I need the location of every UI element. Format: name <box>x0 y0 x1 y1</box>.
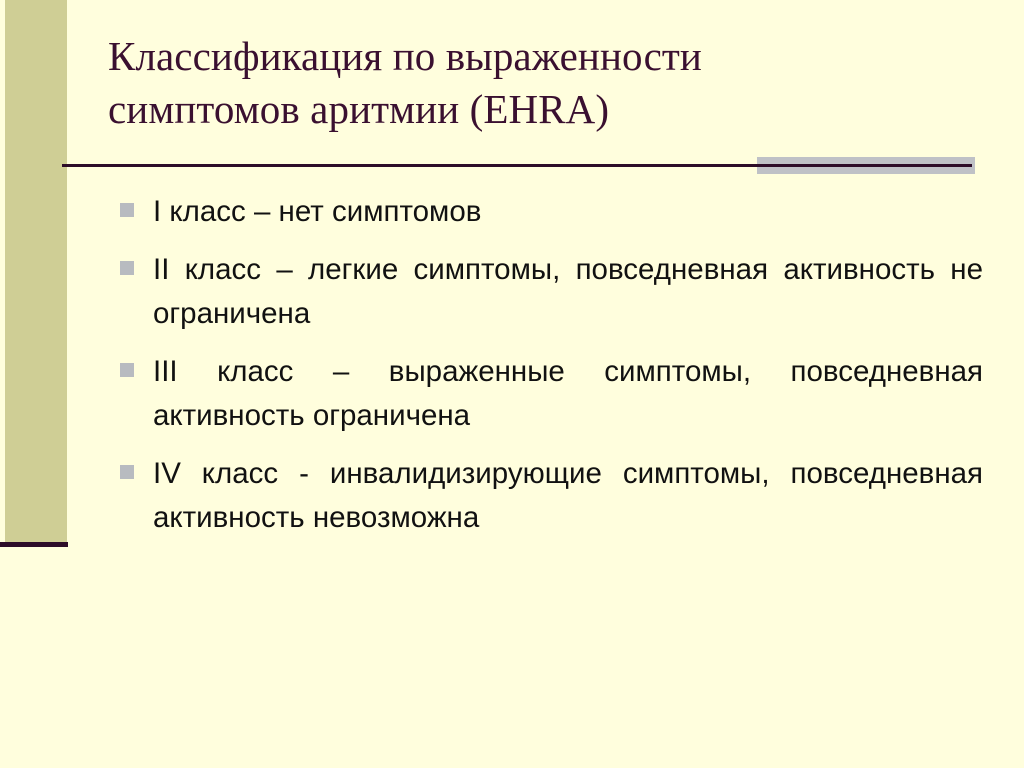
title-underline-rule <box>62 164 972 167</box>
left-decorative-band <box>5 0 67 542</box>
slide-canvas: Классификация по выраженности симптомов … <box>0 0 1024 768</box>
bullet-list: I класс – нет симптомов II класс – легки… <box>118 190 983 554</box>
list-item-label: II класс – легкие симптомы, повседневная… <box>153 248 983 336</box>
title-line-1: Классификация по выраженности <box>108 30 988 83</box>
list-item-label: I класс – нет симптомов <box>153 190 983 234</box>
square-bullet-icon <box>120 203 134 217</box>
list-item: I класс – нет симптомов <box>118 190 983 234</box>
slide-title: Классификация по выраженности симптомов … <box>108 30 988 136</box>
square-bullet-icon <box>120 363 134 377</box>
list-item: II класс – легкие симптомы, повседневная… <box>118 248 983 336</box>
left-band-underline <box>0 542 68 547</box>
list-item-label: III класс – выраженные симптомы, повседн… <box>153 350 983 438</box>
square-bullet-icon <box>120 465 134 479</box>
list-item-label: IV класс - инвалидизирующие симптомы, по… <box>153 452 983 540</box>
title-line-2: симптомов аритмии (EHRA) <box>108 83 988 136</box>
square-bullet-icon <box>120 261 134 275</box>
list-item: IV класс - инвалидизирующие симптомы, по… <box>118 452 983 540</box>
list-item: III класс – выраженные симптомы, повседн… <box>118 350 983 438</box>
